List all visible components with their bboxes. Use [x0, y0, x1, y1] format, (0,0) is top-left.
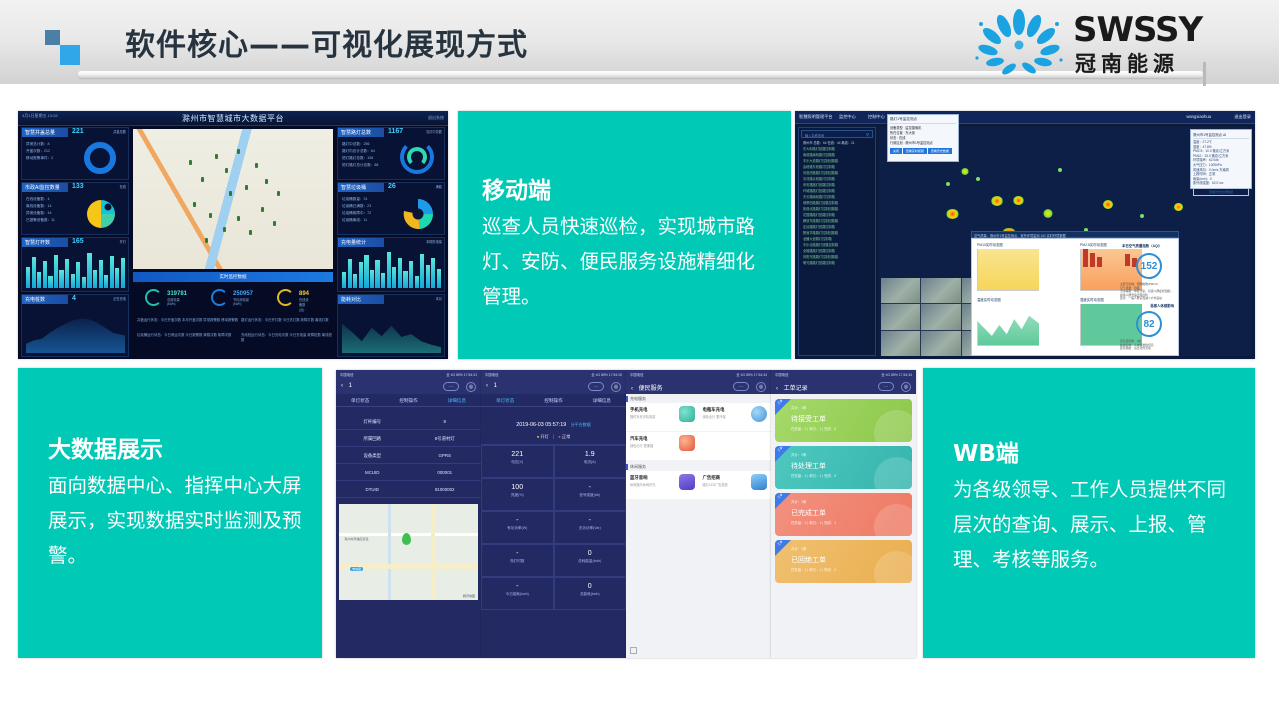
gis-charts-header: 空气质量：滁州市1号监控测点，室外环境监测 152 实时环境数据	[971, 231, 1179, 238]
row-key: 灯杆编号	[336, 419, 409, 425]
pm10-plot	[977, 249, 1039, 291]
state-separator: |	[553, 434, 554, 439]
metric-value: 0	[555, 583, 626, 590]
card-row: 熄灯路灯总计总数：88	[342, 163, 378, 168]
popup-live-video-button[interactable]: 查看实时视频	[903, 148, 927, 154]
card-legend: 正在充电	[113, 296, 126, 301]
aqi-title: 本日空气质量指数（AQI）	[1122, 243, 1174, 248]
card-label: 充电量统计	[338, 238, 384, 247]
metric-cell: - 今日能耗(kwh)	[481, 577, 554, 610]
metric-cell: - 亮灯时数	[481, 544, 554, 577]
metric-label: 电压(V)	[482, 460, 553, 465]
chart-title: PM2.5实时动态图	[1080, 242, 1107, 247]
card-charging-pile[interactable]: 充电桩数 4 正在充电	[21, 294, 129, 357]
row-key: MCUID	[336, 470, 409, 475]
work-order-sub: 任务量：1 | 单日：1 | 完成：0	[791, 567, 836, 572]
back-icon[interactable]: ‹	[776, 386, 778, 392]
card-legend: 本月	[436, 296, 442, 301]
stat-label: 总用电量(kWh)	[167, 297, 187, 306]
metric-cell: - 无功功率(Var)	[554, 511, 627, 544]
metric-value: -	[482, 583, 553, 590]
metric-label: 今日能耗(kwh)	[482, 592, 553, 597]
back-icon[interactable]: ‹	[341, 383, 343, 389]
card-label: 智慧灯杆数	[22, 238, 68, 247]
tab-lamp-status[interactable]: 单灯状态	[481, 394, 529, 406]
state-normal: 正常	[562, 434, 570, 439]
metric-label: 亮灯时数	[482, 559, 553, 564]
card-row: 已报警设备数：11	[26, 218, 55, 223]
row-key: 设备类型	[336, 453, 409, 459]
target-icon[interactable]: ◎	[611, 382, 621, 392]
popup-history-button[interactable]: 查看历史数据	[928, 148, 952, 154]
bar-chart	[26, 248, 125, 288]
row-value: 8号道村灯	[409, 436, 482, 442]
work-order-count: 共计：1条	[791, 452, 806, 457]
section-header-leisure: 休闲服务	[626, 462, 771, 471]
heat-blob	[991, 196, 1003, 206]
gis-user-menu[interactable]: wangxiaohua	[1186, 114, 1211, 119]
logo-wordmark: SWSSY	[1073, 10, 1202, 50]
camera-tile[interactable]	[881, 331, 920, 356]
service-name: 手机充电	[630, 407, 648, 413]
card-ai-monitor[interactable]: 市政AI监控数量 133 在线 在线设备数：4 离线设备数：14 异常设备数：4…	[21, 182, 129, 235]
phone-status-bar: 中国电信 全 4G 85% 17:54:34	[771, 370, 916, 379]
card-label: 智慧垃圾桶	[338, 183, 384, 192]
water-droplet-burst-icon	[971, 8, 1067, 76]
work-order-name: 已完成工单	[791, 508, 826, 518]
card-row: 垃圾桶数量：31	[342, 197, 368, 202]
row-key: DTUID	[336, 487, 409, 492]
service-name: 蓝牙音响	[630, 475, 648, 481]
page-title: 软件核心——可视化展现方式	[125, 20, 528, 64]
panel-web-title: WB端	[953, 434, 1019, 468]
phone-navbar: ‹ 工单记录 ⋯ ◎	[771, 379, 916, 394]
tree-item[interactable]: 全椒路路灯回路控制箱	[803, 248, 835, 253]
service-item-phone-charge[interactable]: 手机充电 随时补充手机电量	[626, 403, 699, 431]
company-logo: SWSSY 冠南能源	[971, 6, 1221, 78]
target-icon[interactable]: ◎	[901, 382, 911, 392]
card-row: 垃圾桶离线：11	[342, 218, 367, 223]
metric-cell: 221 电压(V)	[481, 445, 554, 478]
bluetooth-speaker-icon	[679, 474, 695, 490]
area-chart	[342, 311, 441, 353]
footer-row: 路灯运行状态：今日开灯数 今日关灯数 故障灯数 离线灯数	[241, 317, 329, 322]
tree-root: 滁州市 总数：64 在线：44 离线：21	[803, 140, 855, 145]
phone-nav-title: 便民服务	[639, 386, 663, 392]
marker-dot[interactable]	[946, 182, 950, 186]
city-map-image[interactable]	[133, 129, 333, 269]
metric-value: -	[555, 517, 626, 524]
camera-tile[interactable]	[921, 331, 960, 356]
card-row: 离线设备数：14	[26, 204, 52, 209]
card-label: 充电桩数	[22, 295, 68, 304]
lamp-on-icon: ●	[537, 434, 540, 439]
footer-row: 充电桩运行状态：今日充电次数 今日充电量 故障桩数 离线桩数	[241, 332, 335, 342]
search-placeholder: 输入名称查询	[805, 133, 824, 138]
service-desc: 路灯LED广告投放	[703, 482, 728, 487]
gis-nav-monitor[interactable]: 监控中心	[839, 114, 856, 120]
heat-blob	[1043, 209, 1053, 218]
metric-value: 100	[482, 484, 553, 491]
tab-lamp-status[interactable]: 单灯状态	[336, 394, 384, 406]
card-row: 路灯中总数：256	[342, 142, 370, 147]
metric-label: 无功功率(Var)	[555, 526, 626, 531]
work-order-card-rejected[interactable]: 工单 共计：1条 已回绝工单 任务量：1 | 单日：1 | 完成：0	[775, 540, 912, 583]
phone-screenshot-lamp-details: 中国电信 全 4G 85% 17:54:31 ‹ 1 ⋯ ◎ 单灯状态 控制操作…	[336, 370, 481, 658]
comfort-value: 82	[1136, 311, 1162, 337]
work-order-name: 待处理工单	[791, 461, 826, 471]
tree-item[interactable]: 花园路路灯回路控制箱	[803, 212, 835, 217]
service-name: 汽车充电	[630, 436, 648, 442]
gis-topbar: 智慧照明管理平台 监控中心 控制中心 运行数据 wangxiaohua 退出登录	[795, 111, 1255, 124]
sensor-row: 紫外线强度：62.0 lux	[1193, 181, 1249, 186]
gis-sensor-panel[interactable]: 滁州市1号监控测点 AI 温度：27.2℃ 湿度：47.8% PM2.5：10.…	[1190, 129, 1252, 189]
panel-mobile: 移动端 巡查人员快速巡检，实现城市路灯、安防、便民服务设施精细化管理。	[458, 111, 791, 359]
work-order-count: 共计：1条	[791, 405, 806, 410]
pie-chart	[84, 199, 118, 229]
heat-blob	[946, 209, 959, 219]
service-name: 广告招商	[703, 475, 721, 481]
status-right: 全 4G 85% 17:54:26	[591, 372, 622, 377]
dashboard-left-column: 智慧井盖总量 221 井盖总数 异常总计数：8 开盖次数：212 移动报警事件：…	[21, 127, 129, 357]
donut-icon	[277, 289, 294, 306]
chart-title: 湿度实时动态图	[1080, 297, 1104, 302]
camera-tile[interactable]	[881, 278, 920, 303]
header-square-decoration-icon	[45, 30, 81, 66]
panel-bigdata-body: 面向数据中心、指挥中心大屏展示，实现数据实时监测及预警。	[48, 468, 306, 573]
sensor-history-button[interactable]: 查看历史监测数据	[1193, 188, 1249, 196]
card-streetlight-total[interactable]: 智慧路灯总数 1167 亮灯中总数 路灯中总数：256 路灯内总计总数：64 熄…	[337, 127, 445, 180]
stat-label: 在线设备数(台)	[299, 297, 309, 312]
metric-cell: - 信号强度(db)	[554, 478, 627, 511]
panel-bigdata-title: 大数据展示	[48, 430, 163, 464]
card-manhole-total[interactable]: 智慧井盖总量 221 井盖总数 异常总计数：8 开盖次数：212 移动报警事件：…	[21, 127, 129, 180]
card-value: 1167	[388, 128, 403, 135]
service-desc: 绿色出行 更便捷	[630, 443, 653, 448]
tree-item[interactable]: 东大街路灯回路控制箱	[803, 146, 835, 151]
metric-label: 总耗能量(kwh)	[555, 559, 626, 564]
card-label: 智慧井盖总量	[22, 128, 68, 137]
footer-row: 井盖运行状态：今日开盖次数 本月开盖次数 异常报警数 移动报警数	[137, 317, 238, 322]
dashboard-title: 滁州市智慧城市大数据平台	[18, 113, 448, 124]
service-item-car-charge[interactable]: 汽车充电 绿色出行 更便捷	[626, 432, 699, 460]
detail-row: 灯杆编号 8	[336, 413, 481, 430]
tree-item[interactable]: 南谯路南段路灯回路箱	[803, 152, 835, 157]
card-label: 能耗对比	[338, 295, 384, 304]
detail-row: 设备类型 GPRS	[336, 447, 481, 464]
card-row: 开盖次数：212	[26, 149, 50, 154]
phone-tabs[interactable]: 单灯状态 控制操作 详细信息	[336, 394, 481, 407]
air-quality-charts: PM10实时动态图 PM2.5实时动态图 温度实时动态图 湿度实时动态图 本日空…	[971, 238, 1179, 356]
target-icon[interactable]: ◎	[466, 382, 476, 392]
work-order-card-completed[interactable]: 工单 共计：1条 已完成工单 任务量：1 | 单日：1 | 完成：1	[775, 493, 912, 536]
camera-tile[interactable]	[921, 304, 960, 329]
tree-item[interactable]: 来安路路灯回路控制箱	[803, 182, 835, 187]
card-row: 移动报警事件：2	[26, 156, 53, 161]
phone-nav-title: 工单记录	[784, 386, 808, 392]
metric-label: 亮度(%)	[482, 493, 553, 498]
camera-tile[interactable]	[881, 304, 920, 329]
more-icon[interactable]: ⋯	[878, 382, 894, 391]
work-order-sub: 任务量：1 | 单日：1 | 完成：0	[791, 426, 836, 431]
target-icon[interactable]: ◎	[756, 382, 766, 392]
card-energy-compare[interactable]: 能耗对比 本月	[337, 294, 445, 357]
row-key: 所属回路	[336, 436, 409, 442]
phone-screenshot-lamp-status: 中国电信 全 4G 85% 17:54:26 ‹ 1 ⋯ ◎ 单灯状态 控制操作…	[481, 370, 626, 658]
tab-control[interactable]: 控制操作	[384, 394, 432, 406]
state-on: 开灯	[540, 434, 548, 439]
sensor-panel-title: 滁州市1号监控测点 AI	[1193, 132, 1249, 139]
service-desc: 休闲娱乐休闲时光	[630, 482, 656, 487]
service-item-bluetooth-speaker[interactable]: 蓝牙音响 休闲娱乐休闲时光	[626, 471, 699, 499]
card-legend: 满载	[436, 184, 442, 189]
slide-header: 软件核心——可视化展现方式	[0, 0, 1279, 84]
card-legend: 本期充电量	[426, 239, 442, 244]
carrier-label: 中国电信	[485, 373, 499, 377]
area-chart	[26, 311, 125, 353]
more-icon[interactable]: ⋯	[443, 382, 459, 391]
popup-row: 行政区划 : 滁州市1号监控测点	[890, 141, 956, 146]
search-icon[interactable]: ⚲	[866, 132, 869, 137]
card-row: 熄灯路灯总数：108	[342, 156, 373, 161]
metric-cell: - 有功功率(W)	[481, 511, 554, 544]
metric-value: -	[482, 550, 553, 557]
gis-map-popup[interactable]: 路灯1号监控测点 设备类型 : 监控摄像机 所在位置 : 东大街 状态 : 在线…	[887, 114, 959, 162]
card-smart-pole[interactable]: 智慧灯杆数 165 开灯	[21, 237, 129, 292]
back-icon[interactable]: ‹	[631, 386, 633, 392]
section-header-charging: 充电服务	[626, 394, 771, 403]
heat-blob	[1103, 200, 1113, 209]
comfort-desc: 舒适度指数：3级 健康影响：人体感觉较舒适 建议措施：适合室外活动	[1120, 340, 1174, 351]
phone-tabs[interactable]: 单灯状态 控制操作 详细信息	[481, 394, 626, 407]
ebike-charge-icon	[751, 406, 767, 422]
card-label: 市政AI监控数量	[22, 183, 68, 192]
status-right: 全 4G 85% 17:54:34	[736, 372, 767, 377]
metric-value: 1.9	[555, 451, 626, 458]
service-item-empty	[699, 432, 772, 460]
card-value: 165	[72, 238, 84, 245]
comfort-title: 易感人体感影响	[1150, 303, 1174, 308]
metric-cell: 1.9 电流(A)	[554, 445, 627, 478]
phone-screenshot-work-orders: 中国电信 全 4G 85% 17:54:34 ‹ 工单记录 ⋯ ◎ 工单 共计：…	[771, 370, 916, 658]
phone-status-bar: 中国电信 全 4G 85% 17:54:31	[336, 370, 481, 379]
map-banner: 实时监控数据	[133, 272, 333, 282]
gis-device-tree[interactable]: 输入名称查询 ⚲ 滁州市 总数：64 在线：44 离线：21 东大街路灯回路控制…	[798, 127, 876, 356]
service-item-ebike-charge[interactable]: 电瓶车充电 绿色出行 更环保	[699, 403, 772, 431]
tab-details[interactable]: 详细信息	[433, 394, 481, 406]
chart-title: 温度实时动态图	[977, 297, 1001, 302]
gis-nav-control[interactable]: 控制中心	[868, 114, 885, 120]
panel-web-body: 为各级领导、工作人员提供不同层次的查询、展示、上报、管理、考核等服务。	[953, 472, 1239, 577]
work-order-name: 已回绝工单	[791, 555, 826, 565]
aqi-value: 152	[1136, 253, 1162, 279]
card-charge-volume[interactable]: 充电量统计 本期充电量	[337, 237, 445, 292]
donut-icon	[145, 289, 162, 306]
carrier-label: 中国电信	[340, 373, 354, 377]
gis-logout[interactable]: 退出登录	[1234, 114, 1251, 120]
card-value: 26	[388, 183, 396, 190]
card-row: 异常总计数：8	[26, 142, 50, 147]
alarm-icon: ●	[558, 434, 561, 439]
status-summary: 2019-06-03 05:57:19 分平台数据 ● 开灯 | ● 正常	[481, 413, 626, 445]
carrier-label: 中国电信	[775, 373, 789, 377]
metric-value: 221	[482, 451, 553, 458]
popup-close-button[interactable]: 关闭	[890, 148, 902, 154]
gis-platform-screenshot: 智慧照明管理平台 监控中心 控制中心 运行数据 wangxiaohua 退出登录…	[795, 111, 1255, 359]
status-timestamp: 2019-06-03 05:57:19	[516, 422, 566, 428]
work-order-card-pending-accept[interactable]: 工单 共计：1条 待接受工单 任务量：1 | 单日：1 | 完成：0	[775, 399, 912, 442]
card-value: 4	[72, 295, 76, 302]
tree-item[interactable]: 定远路路灯回路控制箱	[803, 224, 835, 229]
phone-navbar: ‹ 1 ⋯ ◎	[481, 379, 626, 394]
more-icon[interactable]: ⋯	[588, 382, 604, 391]
card-row: 路灯内总计总数：64	[342, 149, 375, 154]
ad-screen-icon	[751, 474, 767, 490]
marker-dot[interactable]	[1140, 214, 1144, 218]
card-legend: 亮灯中总数	[426, 129, 442, 134]
detail-row: 所属回路 8号道村灯	[336, 430, 481, 447]
panel-mobile-title: 移动端	[482, 171, 551, 205]
tab-details[interactable]: 详细信息	[578, 394, 626, 406]
card-row: 在线设备数：4	[26, 197, 50, 202]
map-attribution: 腾讯地图	[463, 594, 475, 598]
tree-item[interactable]: 解放东路路灯控制回路箱	[803, 218, 838, 223]
work-order-card-pending-process[interactable]: 工单 共计：1条 待处理工单 任务量：1 | 单日：1 | 完成：0	[775, 446, 912, 489]
tree-item[interactable]: 丰乐大道路灯控制回路箱	[803, 158, 838, 163]
bar-chart	[342, 248, 441, 288]
marker-dot[interactable]	[1058, 168, 1062, 172]
tree-item[interactable]: 醉翁亭路路灯控制回路箱	[803, 230, 838, 235]
metric-label: 电流(A)	[555, 460, 626, 465]
map-badge: 电信路	[350, 567, 363, 571]
card-label: 智慧路灯总数	[338, 128, 384, 137]
row-value: GPRS	[409, 453, 482, 458]
home-indicator-icon[interactable]	[630, 647, 637, 654]
dashboard-topbar: 3月1日星期五 13:26 滁州市智慧城市大数据平台 退出系统	[18, 111, 448, 126]
tree-item[interactable]: 明光路路灯回路控制箱	[803, 260, 835, 265]
tree-item[interactable]: 环城路路灯回路控制箱	[803, 188, 835, 193]
card-value: 221	[72, 128, 84, 135]
panel-mobile-body: 巡查人员快速巡检，实现城市路灯、安防、便民服务设施精细化管理。	[482, 209, 767, 314]
work-order-sub: 任务量：1 | 单日：1 | 完成：1	[791, 520, 836, 525]
card-legend: 在线	[120, 184, 126, 189]
temp-plot	[977, 304, 1039, 346]
donut-chart	[84, 142, 116, 174]
tree-item[interactable]: 紫薇北路路灯控制回路箱	[803, 206, 838, 211]
car-charge-icon	[679, 435, 695, 451]
back-icon[interactable]: ‹	[486, 383, 488, 389]
map-label: 滁州市南谯区街道	[345, 537, 369, 541]
stat-label: 节约用电量(kWh)	[233, 297, 253, 306]
metric-cell: 0 总耗能量(kwh)	[554, 544, 627, 577]
dashboard-right-column: 智慧路灯总数 1167 亮灯中总数 路灯中总数：256 路灯内总计总数：64 熄…	[337, 127, 445, 357]
bigdata-dashboard-screenshot: 3月1日星期五 13:26 滁州市智慧城市大数据平台 退出系统 智慧井盖总量 2…	[18, 111, 448, 359]
row-value: 000001	[409, 470, 482, 475]
tree-item[interactable]: 凤阳东路路灯控制回路箱	[803, 254, 838, 259]
phone-nav-title: 1	[494, 383, 497, 389]
dashboard-exit-link[interactable]: 退出系统	[428, 115, 444, 121]
tree-item[interactable]: 凤凰西路路灯控制回路箱	[803, 170, 838, 175]
heat-blob	[961, 168, 969, 175]
service-desc: 绿色出行 更环保	[703, 414, 726, 419]
map-pin-icon	[402, 533, 411, 545]
metric-cell: 0 总能耗(kwh)	[554, 577, 627, 610]
popup-title: 路灯1号监控测点	[890, 117, 956, 124]
dashboard-center-column: 实时监控数据 319781 总用电量(kWh) 250957 节约用电量(kWh…	[131, 127, 335, 357]
phone-map[interactable]: 滁州市南谯区街道 电信路 腾讯地图	[339, 504, 478, 600]
gis-search-box[interactable]: 输入名称查询 ⚲	[801, 130, 873, 138]
phone-navbar: ‹ 1 ⋯ ◎	[336, 379, 481, 394]
slide-root: 软件核心——可视化展现方式	[0, 0, 1279, 720]
tab-control[interactable]: 控制操作	[529, 394, 577, 406]
work-order-name: 待接受工单	[791, 414, 826, 424]
phone-navbar: ‹ 便民服务 ⋯ ◎	[626, 379, 771, 394]
carrier-label: 中国电信	[630, 373, 644, 377]
marker-dot[interactable]	[976, 177, 980, 181]
tree-item[interactable]: 会峰路东段路灯控制箱	[803, 164, 835, 169]
phone-nav-title: 1	[349, 383, 352, 389]
heat-blob	[1174, 203, 1183, 211]
status-right: 全 4G 85% 17:54:31	[446, 372, 477, 377]
work-order-sub: 任务量：1 | 单日：1 | 完成：0	[791, 473, 836, 478]
service-item-advertising[interactable]: 广告招商 路灯LED广告投放	[699, 471, 772, 499]
tree-item[interactable]: 清流路北段路灯控制箱	[803, 176, 835, 181]
phone-charge-icon	[679, 406, 695, 422]
tree-item[interactable]: 龙蟠大道路灯控制箱	[803, 236, 832, 241]
phone-status-bar: 中国电信 全 4G 85% 17:54:34	[626, 370, 771, 379]
chart-title: PM10实时动态图	[977, 242, 1003, 247]
status-link[interactable]: 分平台数据	[571, 422, 591, 427]
metric-value: 0	[555, 550, 626, 557]
phone-screenshot-services: 中国电信 全 4G 85% 17:54:34 ‹ 便民服务 ⋯ ◎ 充电服务 手…	[626, 370, 771, 658]
tree-item[interactable]: 琅琊西路路灯回路控制箱	[803, 200, 838, 205]
row-value: 81000002	[409, 487, 482, 492]
pie-chart	[400, 197, 436, 231]
panel-bigdata: 大数据展示 面向数据中心、指挥中心大屏展示，实现数据实时监测及预警。	[18, 368, 322, 658]
card-smart-bin[interactable]: 智慧垃圾桶 26 满载 垃圾桶数量：31 垃圾桶已满数：23 垃圾桶故障中：72…	[337, 182, 445, 235]
metric-label: 有功功率(W)	[482, 526, 553, 531]
tree-item[interactable]: 丰乐北路路灯回路控制箱	[803, 242, 838, 247]
footer-row: 垃圾桶运行状态：今日清运次数 今日报警数 满载次数 故障次数	[137, 332, 231, 337]
service-name: 电瓶车充电	[703, 407, 725, 413]
card-row: 异常设备数：44	[26, 211, 52, 216]
detail-row: DTUID 81000002	[336, 481, 481, 498]
card-value: 133	[72, 183, 84, 190]
detail-row: MCUID 000001	[336, 464, 481, 481]
aqi-desc: 主要污染物：细颗粒物(PM2.5) 空气质量：四级 污染等级：中度污染，易感人群…	[1120, 283, 1174, 301]
card-row: 垃圾桶已满数：23	[342, 204, 371, 209]
more-icon[interactable]: ⋯	[733, 382, 749, 391]
services-empty-area	[626, 500, 771, 658]
camera-tile[interactable]	[921, 278, 960, 303]
heat-blob	[1013, 196, 1024, 205]
tree-item[interactable]: 天长路南段路灯控制箱	[803, 194, 835, 199]
metric-label: 信号强度(db)	[555, 493, 626, 498]
metric-value: -	[482, 517, 553, 524]
row-value: 8	[409, 419, 482, 424]
donut-icon	[211, 289, 228, 306]
work-order-count: 共计：1条	[791, 499, 806, 504]
logo-subtitle: 冠南能源	[1075, 48, 1179, 78]
service-desc: 随时补充手机电量	[630, 414, 656, 419]
work-order-count: 共计：1条	[791, 546, 806, 551]
metric-value: -	[555, 484, 626, 491]
status-right: 全 4G 85% 17:54:34	[881, 372, 912, 377]
metric-label: 总能耗(kwh)	[555, 592, 626, 597]
phone-status-bar: 中国电信 全 4G 85% 17:54:26	[481, 370, 626, 379]
metric-cell: 100 亮度(%)	[481, 478, 554, 511]
card-legend: 开灯	[120, 239, 126, 244]
